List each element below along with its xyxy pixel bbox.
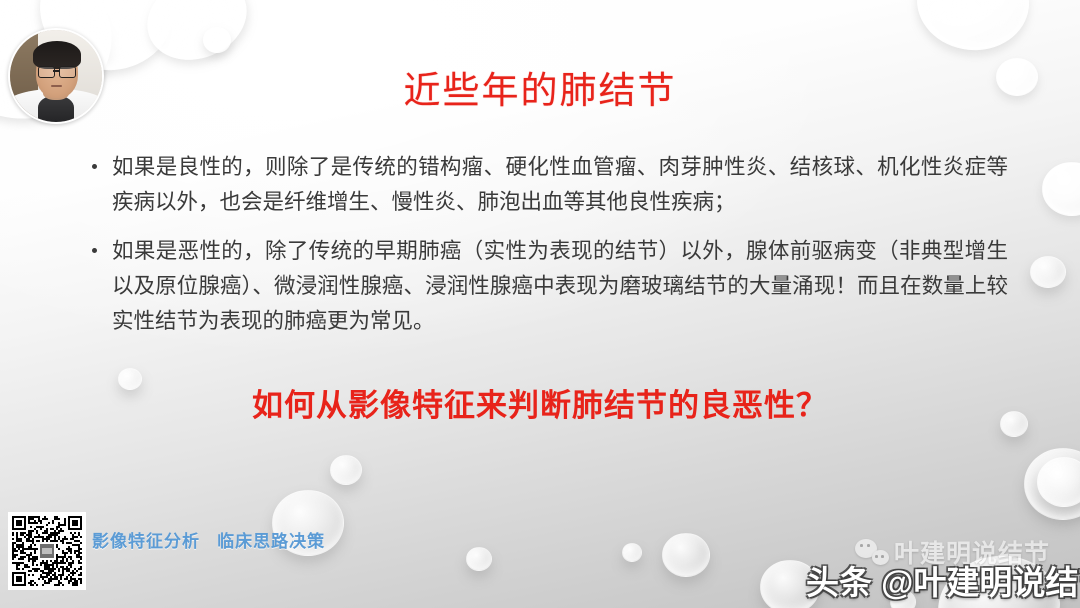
droplet-7 — [1024, 448, 1080, 520]
presentation-slide: 近些年的肺结节 如果是良性的，则除了是传统的错构瘤、硬化性血管瘤、肉芽肿性炎、结… — [0, 0, 1080, 608]
bullet-item: 如果是良性的，则除了是传统的错构瘤、硬化性血管瘤、肉芽肿性炎、结核球、机化性炎症… — [88, 150, 1008, 220]
droplet-12 — [622, 543, 642, 562]
droplet-9 — [1037, 457, 1080, 507]
bullet-item: 如果是恶性的，除了传统的早期肺癌（实性为表现的结节）以外，腺体前驱病变（非典型增… — [88, 234, 1008, 339]
bullet-dot-icon — [92, 164, 97, 169]
droplet-6 — [1042, 162, 1080, 216]
bullet-dot-icon — [92, 248, 97, 253]
droplet-19 — [1030, 256, 1066, 288]
slide-question: 如何从影像特征来判断肺结节的良恶性？ — [0, 380, 1080, 425]
droplet-17 — [330, 455, 362, 485]
droplet-4 — [912, 0, 1033, 56]
toutiao-watermark: 头条 @叶建明说结节 — [806, 556, 1080, 604]
droplet-10 — [662, 533, 710, 577]
droplet-3 — [203, 27, 231, 53]
qr-code-canvas — [12, 516, 82, 586]
slide-body: 如果是良性的，则除了是传统的错构瘤、硬化性血管瘤、肉芽肿性炎、结核球、机化性炎症… — [88, 150, 1008, 353]
bullet-text: 如果是恶性的，除了传统的早期肺癌（实性为表现的结节）以外，腺体前驱病变（非典型增… — [112, 234, 1008, 339]
slide-title: 近些年的肺结节 — [0, 60, 1080, 114]
droplet-15 — [466, 547, 492, 571]
qr-code[interactable] — [8, 512, 86, 590]
toutiao-handle: @叶建明说结节 — [872, 556, 1080, 604]
footer-tagline: 影像特征分析 临床思路决策 — [92, 527, 325, 552]
toutiao-brand: 头条 — [806, 556, 872, 604]
bullet-text: 如果是良性的，则除了是传统的错构瘤、硬化性血管瘤、肉芽肿性炎、结核球、机化性炎症… — [112, 150, 1008, 220]
